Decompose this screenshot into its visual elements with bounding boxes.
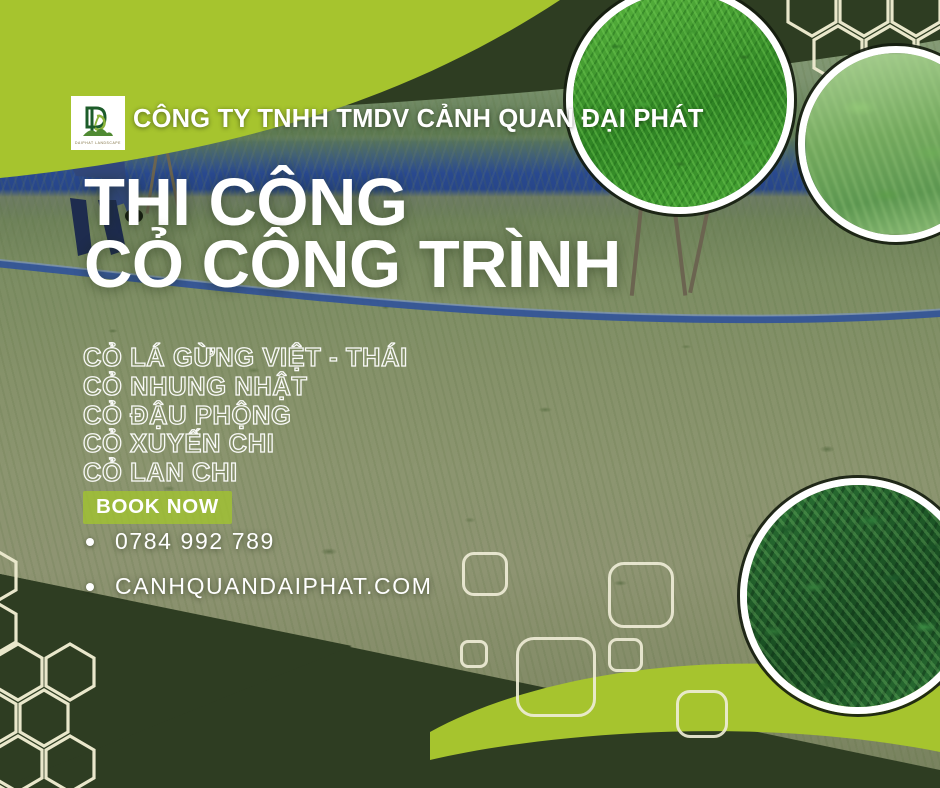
decor-rounded-square	[460, 640, 488, 668]
contact-website-value: CANHQUANDAIPHAT.COM	[115, 573, 433, 600]
company-name: CÔNG TY TNHH TMDV CẢNH QUAN ĐẠI PHÁT	[133, 105, 704, 134]
photo-circle-dense-foliage	[740, 478, 940, 714]
logo-caption: DAIPHAT LANDSCAPE	[75, 141, 121, 145]
list-item: CỎ XUYẾN CHI	[83, 430, 408, 459]
services-list: CỎ LÁ GỪNG VIỆT - THÁI CỎ NHUNG NHẬT CỎ …	[83, 344, 408, 488]
contact-phone-value: 0784 992 789	[115, 528, 275, 555]
decor-rounded-square	[676, 690, 728, 738]
decor-rounded-square	[516, 637, 596, 717]
logo-monogram-d-icon: DAIPHAT LANDSCAPE	[71, 96, 125, 150]
bullet-dot-icon	[86, 583, 94, 591]
promo-banner: DAIPHAT LANDSCAPE CÔNG TY TNHH TMDV CẢNH…	[0, 0, 940, 788]
book-now-button[interactable]: BOOK NOW	[83, 491, 232, 524]
list-item: CỎ LÁ GỪNG VIỆT - THÁI	[83, 344, 408, 373]
decor-rounded-square	[608, 638, 643, 672]
decor-rounded-square	[462, 552, 508, 596]
list-item: CỎ LAN CHI	[83, 459, 408, 488]
list-item: CỎ ĐẬU PHỘNG	[83, 402, 408, 431]
decor-rounded-square	[608, 562, 674, 628]
contact-list: 0784 992 789 CANHQUANDAIPHAT.COM	[86, 528, 433, 618]
headline: THI CÔNG CỎ CÔNG TRÌNH	[84, 172, 621, 295]
soft-lawn-texture	[805, 53, 940, 235]
dense-foliage-texture	[747, 485, 940, 707]
contact-website[interactable]: CANHQUANDAIPHAT.COM	[86, 573, 433, 600]
contact-phone[interactable]: 0784 992 789	[86, 528, 433, 555]
list-item: CỎ NHUNG NHẬT	[83, 373, 408, 402]
company-logo[interactable]: DAIPHAT LANDSCAPE	[71, 96, 125, 150]
photo-circle-soft-lawn	[798, 46, 940, 242]
headline-line-2: CỎ CÔNG TRÌNH	[84, 234, 621, 296]
bullet-dot-icon	[86, 538, 94, 546]
